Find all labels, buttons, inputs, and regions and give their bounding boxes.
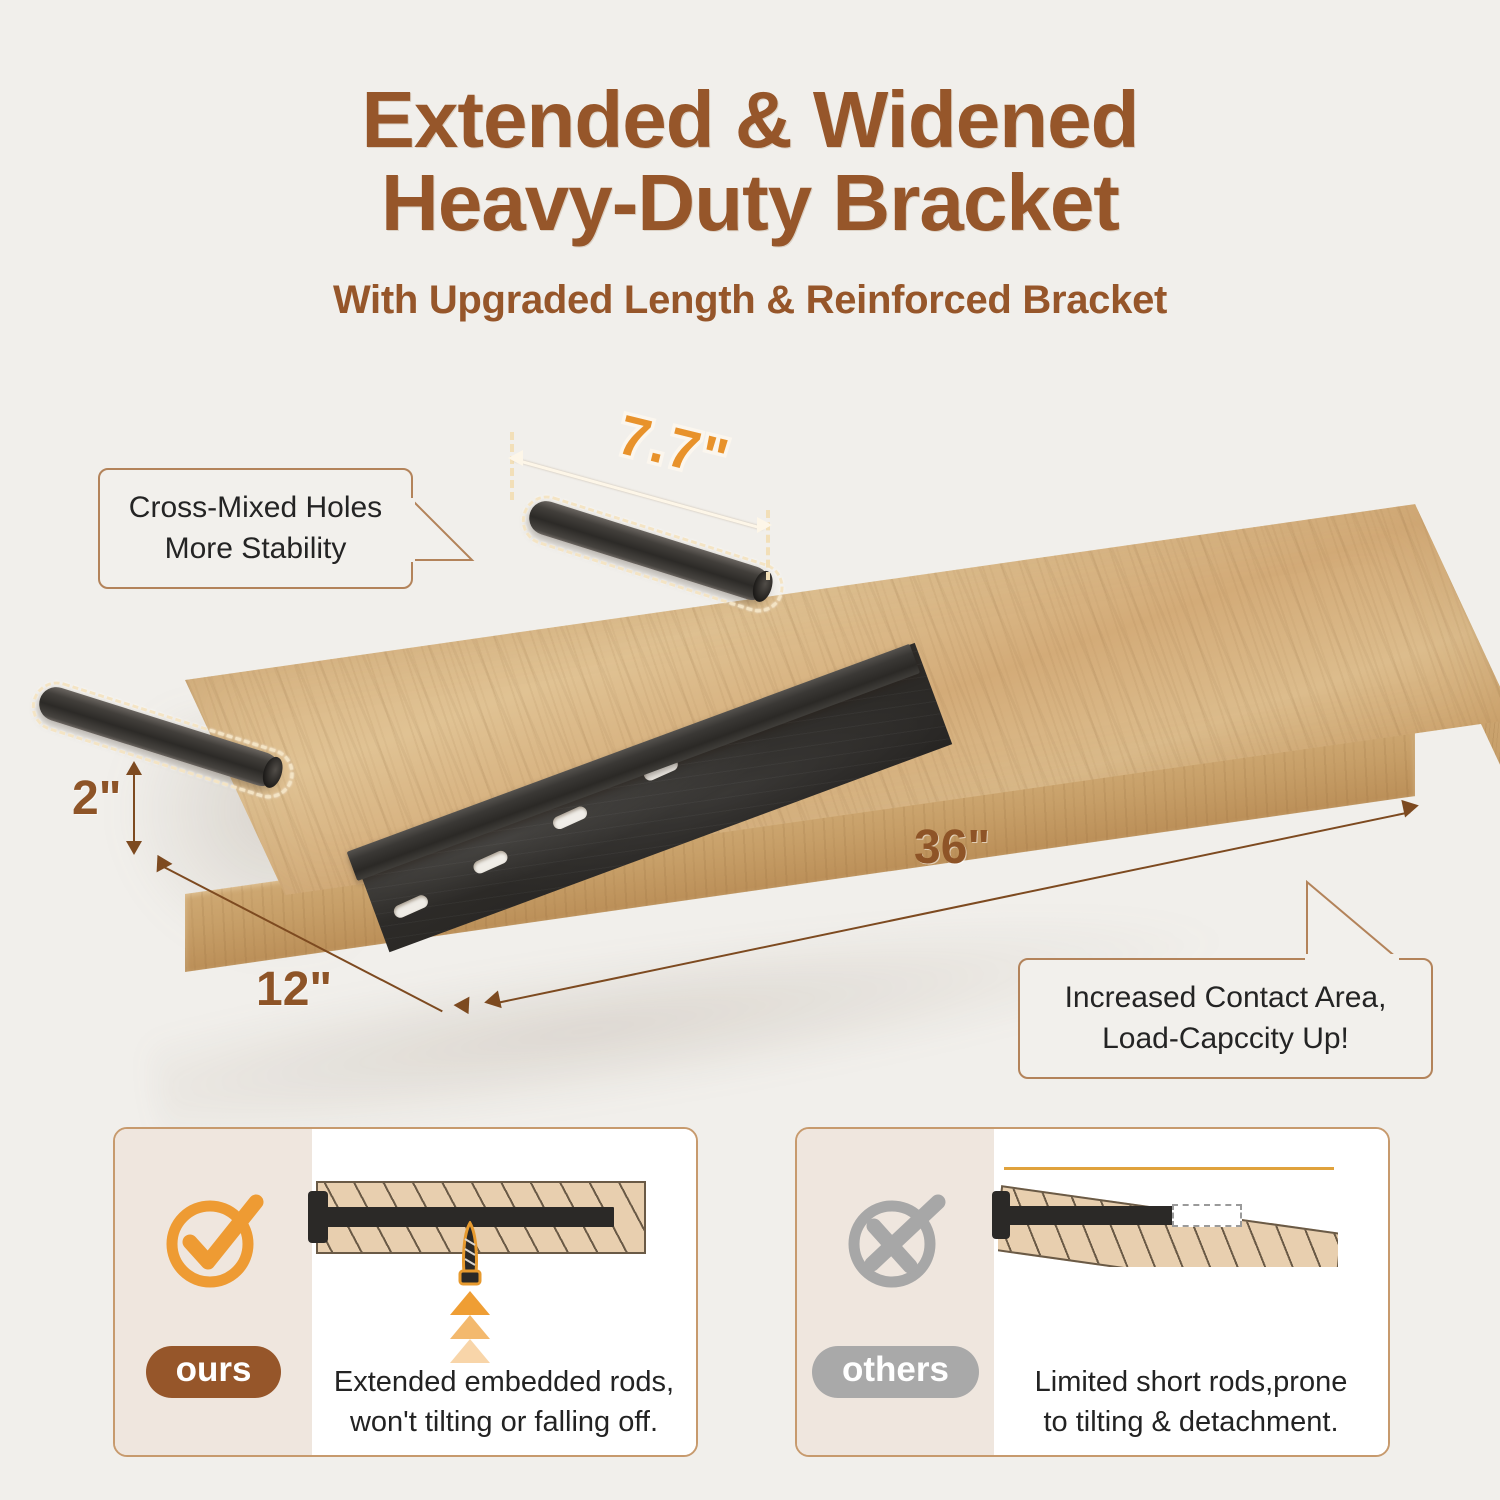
page-title-line1: Extended & Widened (0, 78, 1500, 161)
comparison-panel-ours: ours Extended embedded rods, won't tilti… (113, 1127, 698, 1457)
dim-7-7-arrow-right (757, 517, 772, 533)
screw-icon (453, 1221, 487, 1295)
others-pill-badge: others (812, 1346, 979, 1399)
callout-2-tail (1285, 880, 1415, 970)
others-caption: Limited short rods,prone to tilting & de… (994, 1362, 1388, 1442)
dim-label-thickness: 2" (72, 771, 121, 826)
ours-caption-line2: won't tilting or falling off. (312, 1402, 696, 1442)
callout-line2: More Stability (122, 529, 389, 570)
dim-2in-line (133, 773, 135, 845)
others-diagram-area: Limited short rods,prone to tilting & de… (994, 1129, 1388, 1455)
ours-diagram-area: Extended embedded rods, won't tilting or… (312, 1129, 696, 1455)
dim-2in-arrow-down (126, 841, 142, 855)
callout-cross-mixed-holes: Cross-Mixed Holes More Stability (98, 468, 413, 589)
bracket-slot (392, 893, 430, 920)
bracket-slot (471, 849, 509, 876)
callout-line2: Load-Capccity Up! (1042, 1019, 1409, 1060)
page-title-line2: Heavy-Duty Bracket (0, 161, 1500, 244)
dim-2in-arrow-up (126, 761, 142, 775)
ours-caption: Extended embedded rods, won't tilting or… (312, 1362, 696, 1442)
ours-badge-column: ours (115, 1129, 312, 1455)
others-caption-line2: to tilting & detachment. (994, 1402, 1388, 1442)
dim-label-depth: 12" (256, 962, 332, 1017)
dim-36in-arrow-start (482, 991, 501, 1012)
others-badge-column: others (797, 1129, 994, 1455)
dim-7-7-arrow-left (508, 450, 523, 466)
others-caption-line1: Limited short rods,prone (994, 1362, 1388, 1402)
dim-label-length: 36" (914, 820, 990, 875)
ours-pill-badge: ours (146, 1346, 282, 1399)
dim-7-7-extension-left (510, 432, 514, 500)
others-empty-void (1172, 1204, 1242, 1227)
page-subtitle: With Upgraded Length & Reinforced Bracke… (0, 278, 1500, 323)
header-block: Extended & Widened Heavy-Duty Bracket Wi… (0, 78, 1500, 323)
circle-check-icon (160, 1186, 268, 1294)
ours-caption-line1: Extended embedded rods, (312, 1362, 696, 1402)
others-short-rod (1006, 1206, 1174, 1225)
callout-line1: Cross-Mixed Holes (122, 488, 389, 529)
comparison-panel-others: others Limited short rods,prone to tilti… (795, 1127, 1390, 1457)
dim-36in-arrow-end (1401, 797, 1420, 818)
others-board-cross-section (998, 1185, 1338, 1267)
circle-x-icon (842, 1186, 950, 1294)
level-reference-line (1004, 1167, 1334, 1170)
callout-line1: Increased Contact Area, (1042, 978, 1409, 1019)
callout-1-tail (410, 498, 500, 588)
bracket-slot (551, 804, 589, 831)
callout-increased-contact-area: Increased Contact Area, Load-Capccity Up… (1018, 958, 1433, 1079)
